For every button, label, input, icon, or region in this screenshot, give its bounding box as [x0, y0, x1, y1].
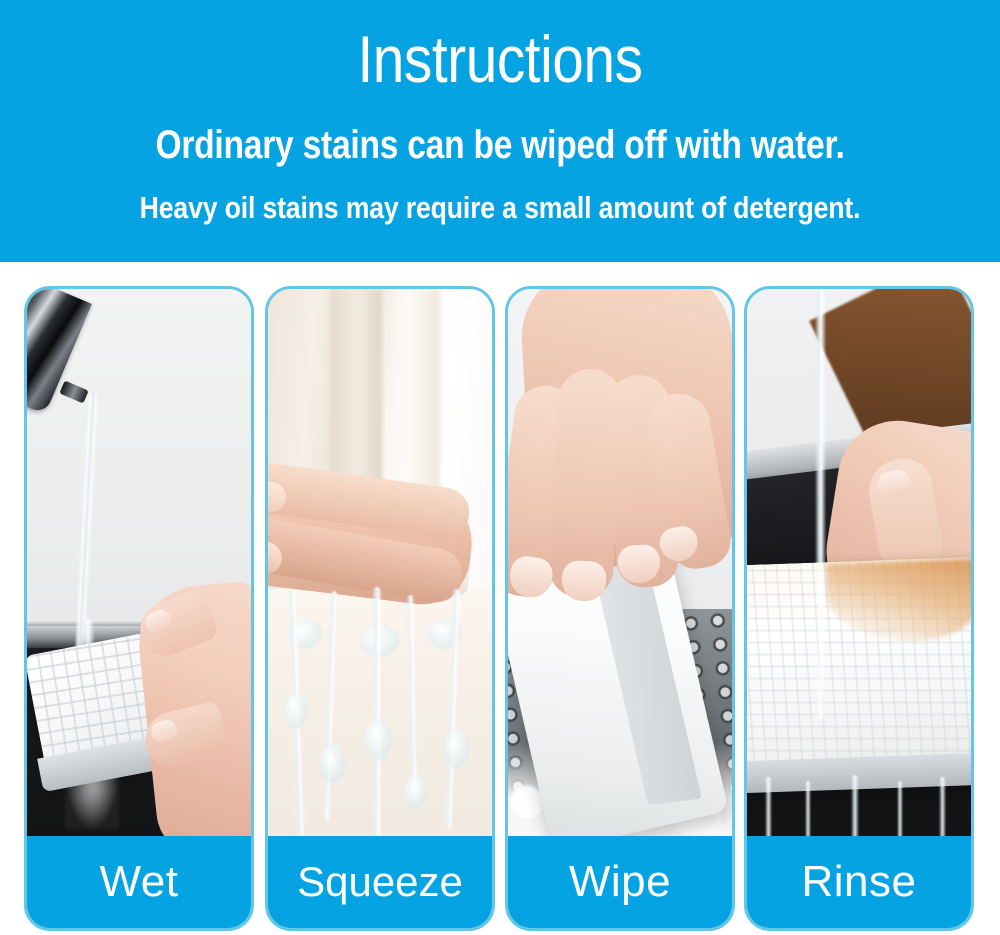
page-title: Instructions	[70, 22, 930, 96]
header-subtitle-primary: Ordinary stains can be wiped off with wa…	[80, 122, 920, 168]
step-label-wipe: Wipe	[508, 836, 732, 928]
header-subtitle-secondary: Heavy oil stains may require a small amo…	[70, 190, 930, 226]
water-stream-on-sponge-shape	[817, 569, 825, 719]
step-label-rinse: Rinse	[747, 836, 971, 928]
water-droplet-shape	[404, 775, 428, 809]
step-panel-wipe: Wipe	[505, 286, 735, 931]
water-droplet-shape	[364, 719, 392, 761]
water-drip-shape	[897, 781, 903, 839]
water-droplet-shape	[284, 693, 308, 729]
water-drip-shape	[765, 777, 772, 842]
step-panel-row: Wet	[0, 286, 1000, 934]
step-photo-wet	[27, 289, 251, 842]
step-photo-squeeze	[268, 289, 492, 842]
water-droplet-shape	[444, 729, 470, 769]
instructions-infographic: Instructions Ordinary stains can be wipe…	[0, 0, 1000, 935]
water-drip-shape	[939, 777, 946, 841]
step-panel-rinse: Rinse	[744, 286, 974, 931]
water-droplet-shape	[320, 745, 346, 783]
header-banner: Instructions Ordinary stains can be wipe…	[0, 0, 1000, 262]
fingernail-shape	[561, 560, 606, 602]
step-photo-rinse	[747, 289, 971, 842]
step-label-wet: Wet	[27, 836, 251, 928]
step-panel-wet: Wet	[24, 286, 254, 931]
step-label-squeeze: Squeeze	[268, 836, 492, 928]
step-panel-squeeze: Squeeze	[265, 286, 495, 931]
water-drip-shape	[372, 587, 382, 842]
water-drip-shape	[851, 775, 859, 842]
water-drip-shape	[805, 781, 811, 841]
faucet-tip-icon	[59, 380, 88, 403]
step-photo-wipe	[508, 289, 732, 842]
